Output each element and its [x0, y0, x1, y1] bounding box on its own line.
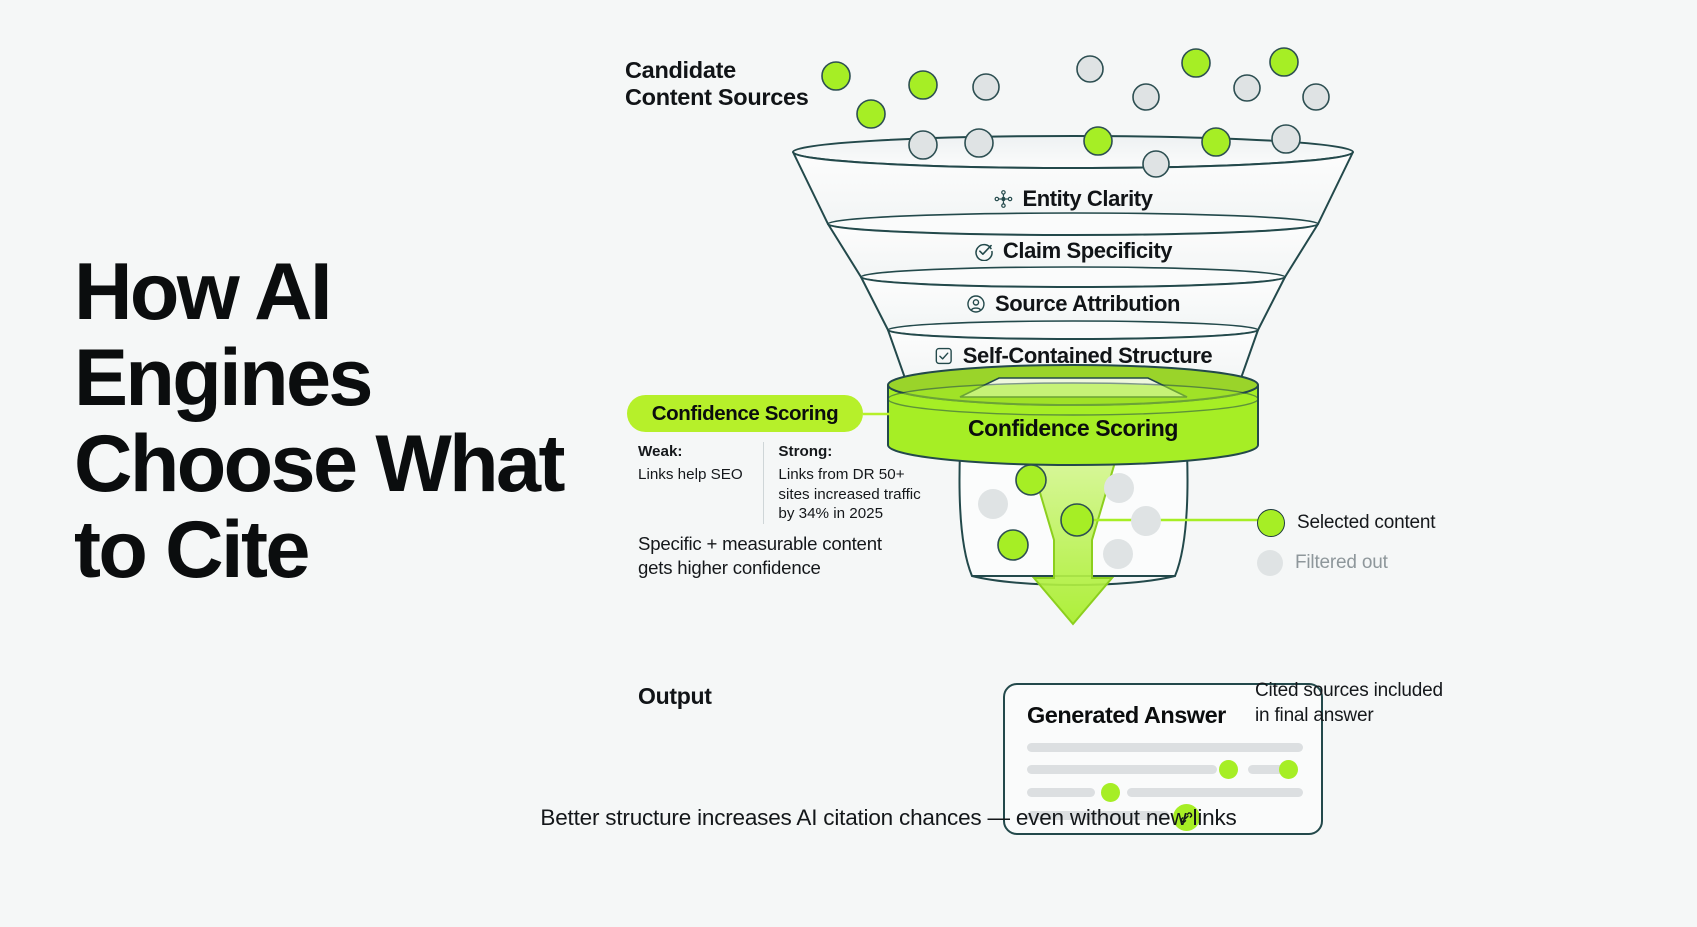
confidence-note-line-2: gets higher confidence — [638, 556, 938, 580]
selected-content-circle — [1016, 465, 1046, 495]
answer-skeleton-line — [1027, 743, 1303, 752]
legend: Selected content Filtered out — [1257, 503, 1435, 583]
cited-annotation-line-2: in final answer — [1255, 704, 1485, 729]
candidate-selected-circle — [1084, 127, 1112, 155]
candidate-selected-circle — [822, 62, 850, 90]
candidate-selected-circle — [1202, 128, 1230, 156]
candidate-selected-circle — [1270, 48, 1298, 76]
candidate-filtered-circle — [1303, 84, 1329, 110]
target-circle-icon — [966, 294, 986, 314]
filtered-out-circle — [1131, 506, 1161, 536]
weak-strong-comparison: Weak: Links help SEO Strong: Links from … — [638, 442, 938, 524]
confidence-pill-label: Confidence Scoring — [652, 402, 838, 426]
citation-dot-icon — [1101, 783, 1120, 802]
selected-content-circle — [998, 530, 1028, 560]
footer-caption: Better structure increases AI citation c… — [0, 805, 1697, 831]
filtered-out-dot-icon — [1257, 550, 1283, 576]
legend-item-selected: Selected content — [1257, 503, 1435, 543]
candidate-selected-circle — [857, 100, 885, 128]
funnel-stage-label: Self-Contained Structure — [963, 343, 1213, 369]
filtered-out-circle — [978, 489, 1008, 519]
funnel-stage-label: Claim Specificity — [1003, 238, 1172, 264]
candidate-filtered-circle — [1272, 125, 1300, 153]
filtered-out-circle — [1103, 539, 1133, 569]
funnel-stage-self-contained-structure[interactable]: Self-Contained Structure — [934, 343, 1213, 369]
strong-heading: Strong: — [778, 442, 938, 461]
candidate-selected-circle — [1182, 49, 1210, 77]
answer-skeleton-line — [1027, 765, 1217, 774]
citation-dot-icon — [1279, 760, 1298, 779]
checkbox-icon — [934, 346, 954, 366]
candidate-filtered-circle — [1143, 151, 1169, 177]
candidate-filtered-circle — [1077, 56, 1103, 82]
candidate-selected-circle — [909, 71, 937, 99]
answer-skeleton-line — [1027, 788, 1095, 797]
confidence-note: Specific + measurable content gets highe… — [638, 532, 938, 580]
funnel-stage-source-attribution[interactable]: Source Attribution — [966, 291, 1180, 317]
citation-dot-icon — [1219, 760, 1238, 779]
answer-skeleton-line — [1127, 788, 1303, 797]
legend-label: Selected content — [1297, 512, 1435, 534]
candidate-filtered-circle — [1234, 75, 1260, 101]
filtered-out-circle — [1104, 473, 1134, 503]
weak-body: Links help SEO — [638, 465, 749, 484]
funnel-stage-entity-clarity[interactable]: Entity Clarity — [993, 186, 1152, 212]
confidence-note-line-1: Specific + measurable content — [638, 532, 938, 556]
funnel-stage-claim-specificity[interactable]: Claim Specificity — [974, 238, 1172, 264]
weak-column: Weak: Links help SEO — [638, 442, 763, 524]
output-label: Output — [638, 683, 712, 710]
funnel-stage-label: Entity Clarity — [1022, 186, 1152, 212]
legend-label: Filtered out — [1295, 552, 1388, 574]
candidate-filtered-circle — [965, 129, 993, 157]
cited-annotation-line-1: Cited sources included — [1255, 679, 1485, 704]
funnel-stage-label: Source Attribution — [995, 291, 1180, 317]
strong-body: Links from DR 50+ sites increased traffi… — [778, 465, 938, 523]
candidate-filtered-circle — [1133, 84, 1159, 110]
candidate-filtered-circle — [909, 131, 937, 159]
selected-content-dot-icon — [1257, 509, 1285, 537]
weak-heading: Weak: — [638, 442, 749, 461]
confidence-band-label: Confidence Scoring — [968, 415, 1178, 442]
entity-nodes-icon — [993, 189, 1013, 209]
cited-sources-annotation: Cited sources included in final answer — [1255, 679, 1485, 728]
generated-answer-title: Generated Answer — [1027, 702, 1226, 729]
legend-item-filtered: Filtered out — [1257, 543, 1435, 583]
strong-column: Strong: Links from DR 50+ sites increase… — [763, 442, 938, 524]
confidence-scoring-pill[interactable]: Confidence Scoring — [627, 395, 863, 432]
footer-caption-text: Better structure increases AI citation c… — [540, 805, 1236, 831]
candidate-filtered-circle — [973, 74, 999, 100]
check-circle-icon — [974, 241, 994, 261]
selected-content-circle — [1061, 504, 1093, 536]
